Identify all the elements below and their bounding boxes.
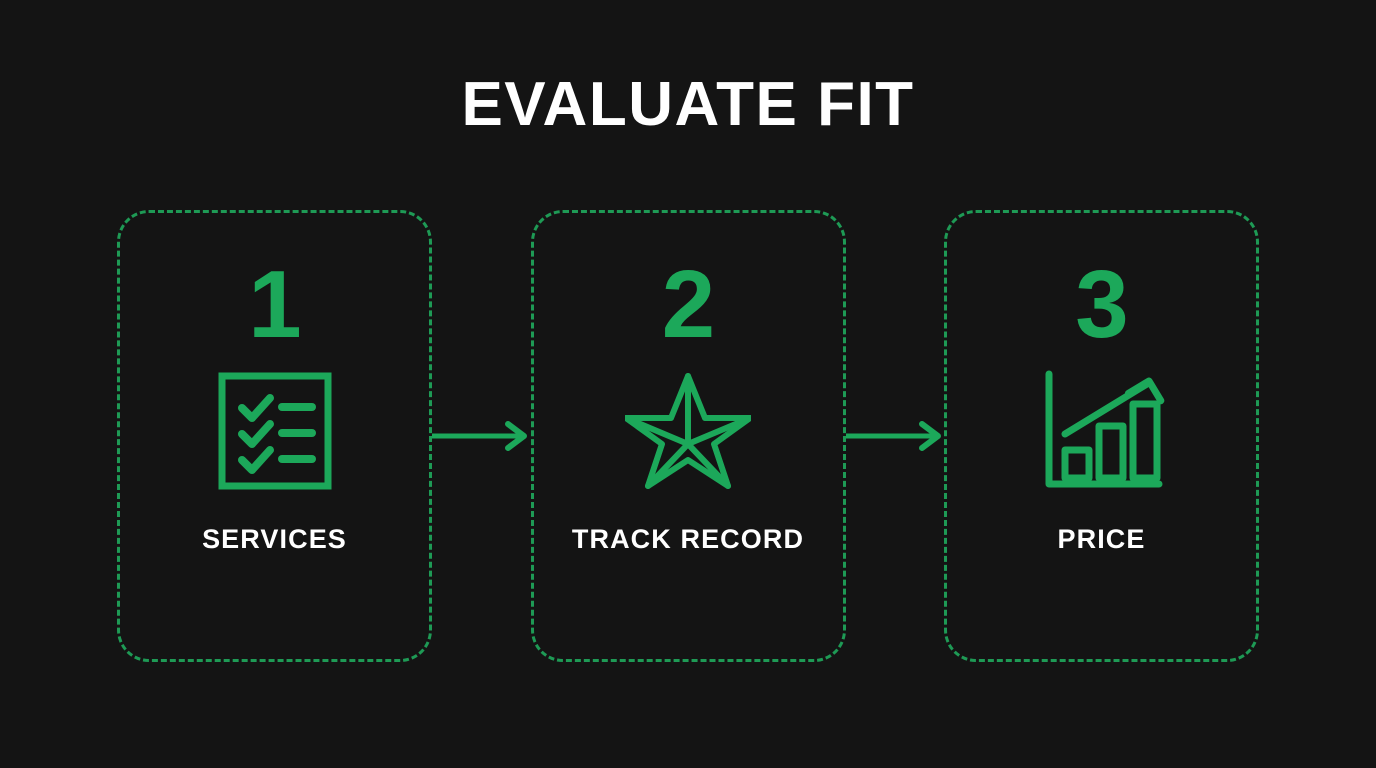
step-number: 2: [662, 259, 714, 350]
steps-row: 1 SERVICES: [117, 210, 1259, 662]
connector-1-2: [432, 210, 531, 662]
step-number: 1: [248, 259, 300, 350]
step-label: SERVICES: [202, 524, 347, 555]
step-card-track-record[interactable]: 2 TRACK RECORD: [531, 210, 846, 662]
slide-canvas: EVALUATE FIT 1 SERVICES: [0, 0, 1376, 768]
step-number: 3: [1075, 259, 1127, 350]
step-label: PRICE: [1057, 524, 1145, 555]
step-card-price[interactable]: 3 PRICE: [944, 210, 1259, 662]
checklist-icon: [216, 368, 334, 494]
page-title: EVALUATE FIT: [0, 74, 1376, 136]
step-label: TRACK RECORD: [572, 524, 804, 555]
arrow-right-icon: [846, 416, 944, 456]
step-card-services[interactable]: 1 SERVICES: [117, 210, 432, 662]
bar-chart-growth-icon: [1039, 368, 1165, 494]
arrow-right-icon: [432, 416, 530, 456]
connector-2-3: [846, 210, 945, 662]
star-icon: [625, 368, 751, 494]
